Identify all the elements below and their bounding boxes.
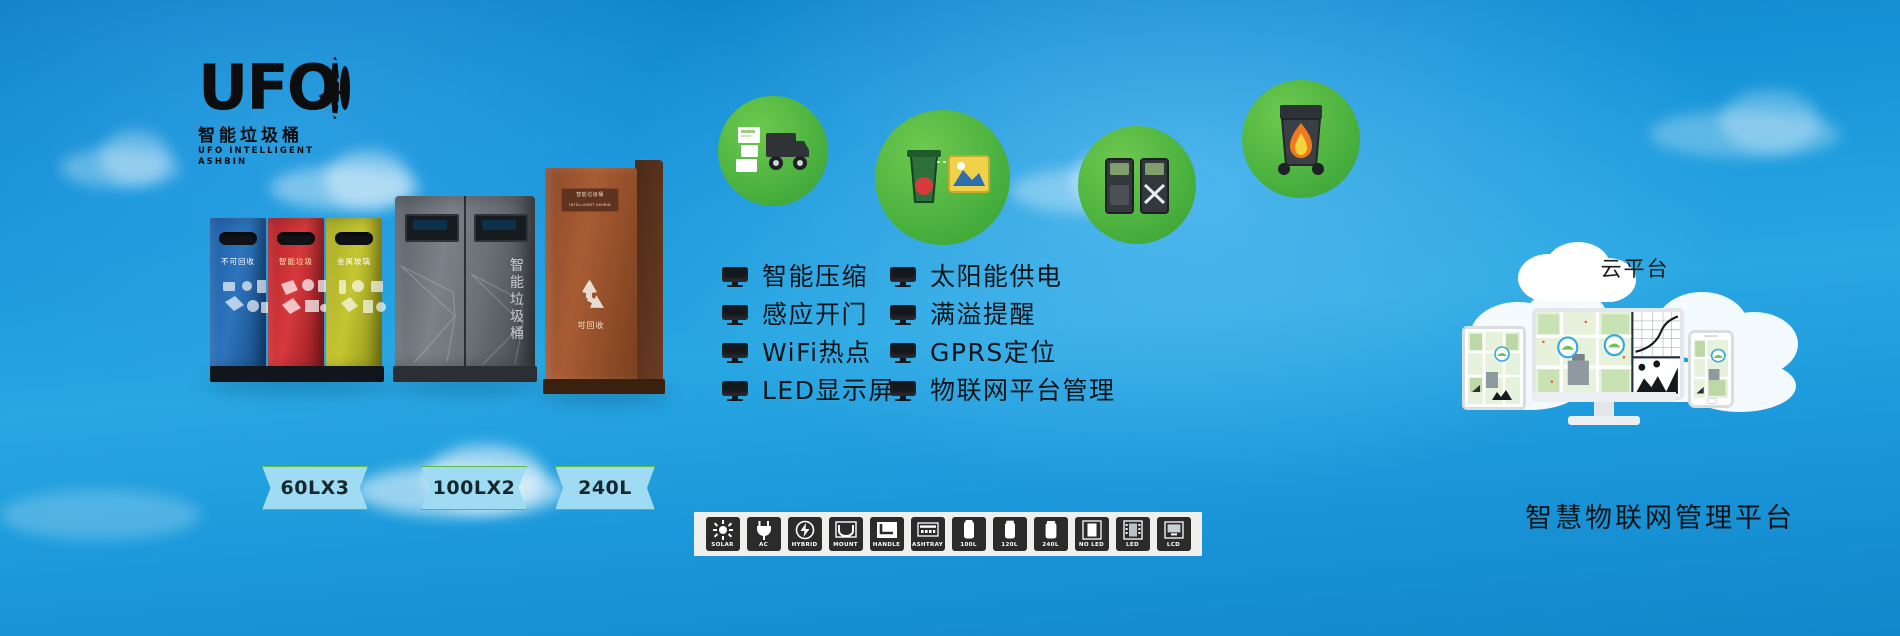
spec-icon-label: MOUNT (833, 542, 858, 549)
phone-map (1694, 340, 1728, 398)
bin-divider (464, 196, 466, 368)
hybrid-power-icon (788, 520, 822, 540)
spec-icon-120l: 120L (993, 517, 1027, 551)
product-single-brown-bin: 智能垃圾桶 INTELLIGENT ASHBIN 可回收 (545, 168, 663, 400)
spec-icon-label: AC (759, 542, 768, 549)
monitor-foot (1568, 416, 1640, 425)
sun-icon (706, 520, 740, 540)
spec-icon-lcd: LCD (1157, 517, 1191, 551)
spec-icon-no-led: NO LED (1075, 517, 1109, 551)
feature-item: 太阳能供电 (890, 262, 1116, 291)
capacity-label: 240L (578, 477, 632, 499)
lcd-icon (1157, 520, 1191, 540)
ufo-ring-icon (331, 57, 333, 119)
monitor-icon (722, 381, 748, 400)
capacity-ribbon-60lx3: 60LX3 (262, 466, 368, 510)
bin-compartment: 智能垃圾 (268, 218, 324, 368)
spec-icon-label: NO LED (1079, 542, 1104, 549)
logo-cn-name: 智能垃圾桶 (198, 126, 333, 146)
waste-pictogram (217, 272, 273, 324)
capacity-label: 100LX2 (433, 477, 516, 499)
bin-compartment: 金属玻璃 (326, 218, 382, 368)
power-plug-icon (747, 520, 781, 540)
monitor-icon (722, 343, 748, 362)
feature-label: 太阳能供电 (930, 262, 1063, 291)
feature-label: LED显示屏 (762, 376, 895, 405)
bin-side-panel (635, 160, 663, 380)
monitor-icon (890, 343, 916, 362)
waste-pictogram (333, 272, 389, 324)
feature-circle-fire-alarm-bin (1242, 80, 1360, 198)
ashtray-icon (911, 520, 945, 540)
capacity-label: 60LX3 (281, 477, 350, 499)
bin-body: 智能垃圾桶 (395, 196, 535, 368)
waste-slot (219, 232, 257, 245)
capacity-ribbon-100lx2: 100LX2 (421, 466, 527, 510)
bin-side-label: 智能垃圾桶 (509, 258, 527, 343)
bin-compartment: 不可回收 (210, 218, 266, 368)
spec-icon-100l: 100L (952, 517, 986, 551)
handle-icon (870, 520, 904, 540)
compactor-truck-icon (736, 123, 810, 179)
spec-icon-label: 100L (960, 542, 976, 549)
device-tablet (1462, 326, 1526, 410)
spec-icon-240l: 240L (1034, 517, 1068, 551)
bin-control-panel: 智能垃圾桶 INTELLIGENT ASHBIN (561, 188, 619, 212)
bin-base (393, 366, 537, 382)
spec-icon-strip: SOLAR AC HYBRID (694, 512, 1202, 556)
spec-icon-label: 240L (1042, 542, 1058, 549)
banner-hero: UFO 智能垃圾桶 UFO INTELLIGENT ASHBIN 不可回收 (0, 0, 1900, 636)
feature-label: 感应开门 (762, 300, 868, 329)
panel-title: 智能垃圾桶 (562, 192, 618, 199)
cloud-platform-label: 云平台 (1575, 253, 1695, 283)
recycle-label: 可回收 (545, 320, 637, 331)
led-display (482, 220, 516, 230)
feature-circle-dual-bin (1078, 126, 1196, 244)
compartment-label: 金属玻璃 (326, 256, 382, 267)
monitor-icon (890, 381, 916, 400)
feature-label: 物联网平台管理 (930, 376, 1116, 405)
feature-list-right: 太阳能供电 满溢提醒 GPRS定位 物联网平台管理 (890, 262, 1116, 414)
led-icon (1116, 520, 1150, 540)
bin-base (543, 379, 665, 394)
device-desktop-monitor (1532, 308, 1676, 426)
tablet-map (1468, 332, 1520, 404)
feature-circle-solar-bin (875, 110, 1010, 245)
waste-slot (335, 232, 373, 245)
waste-slot (277, 232, 315, 245)
feature-item: 满溢提醒 (890, 300, 1116, 329)
monitor-icon (722, 267, 748, 286)
spec-icon-label: ASHTRAY (912, 542, 943, 549)
feature-label: 智能压缩 (762, 262, 868, 291)
feature-item: WiFi热点 (722, 338, 895, 367)
feature-item: GPRS定位 (890, 338, 1116, 367)
feature-item: 感应开门 (722, 300, 895, 329)
feature-item: 物联网平台管理 (890, 376, 1116, 405)
spec-icon-label: 120L (1001, 542, 1017, 549)
compartment-label: 不可回收 (210, 256, 266, 267)
monitor-icon (890, 267, 916, 286)
solar-bin-icon (893, 142, 993, 214)
wall-mount-icon (829, 520, 863, 540)
compartment-label: 智能垃圾 (268, 256, 324, 267)
monitor-icon (722, 305, 748, 324)
led-display (413, 220, 447, 230)
waste-pictogram (275, 272, 331, 324)
dashboard-content (1536, 312, 1680, 396)
spec-icon-ac: AC (747, 517, 781, 551)
logo-en-name: UFO INTELLIGENT ASHBIN (198, 146, 333, 168)
spec-icon-mount: MOUNT (829, 517, 863, 551)
spec-icon-hybrid: HYBRID (788, 517, 822, 551)
monitor-icon (890, 305, 916, 324)
product-three-compartment-bin: 不可回收 智能垃圾 金属玻璃 (210, 218, 385, 388)
dual-bin-icon (1098, 149, 1176, 221)
feature-list-left: 智能压缩 感应开门 WiFi热点 LED显示屏 (722, 262, 895, 414)
spec-icon-label: SOLAR (711, 542, 734, 549)
brand-logo: UFO 智能垃圾桶 UFO INTELLIGENT ASHBIN (198, 52, 333, 172)
monitor-bezel (1532, 308, 1684, 400)
bin-base (210, 366, 384, 382)
spec-icon-solar: SOLAR (706, 517, 740, 551)
feature-label: 满溢提醒 (930, 300, 1036, 329)
bin-120l-icon (993, 520, 1027, 540)
feature-item: 智能压缩 (722, 262, 895, 291)
product-double-compartment-bin: 智能垃圾桶 (395, 196, 535, 388)
platform-title: 智慧物联网管理平台 (1450, 496, 1870, 535)
fire-alarm-bin-icon (1262, 99, 1340, 179)
capacity-ribbon-240l: 240L (555, 466, 655, 510)
spec-icon-label: LCD (1167, 542, 1180, 549)
bin-body: 智能垃圾桶 INTELLIGENT ASHBIN 可回收 (545, 168, 637, 380)
spec-icon-ashtray: ASHTRAY (911, 517, 945, 551)
monitor-chin (1532, 392, 1676, 402)
logo-wordmark: UFO (198, 57, 337, 119)
recycle-icon (569, 276, 609, 316)
feature-item: LED显示屏 (722, 376, 895, 405)
phone-speaker (1704, 335, 1718, 337)
spec-icon-led: LED (1116, 517, 1150, 551)
spec-icon-label: HANDLE (873, 542, 901, 549)
bin-100l-icon (952, 520, 986, 540)
feature-circle-compaction-truck (718, 96, 828, 206)
bin-240l-icon (1034, 520, 1068, 540)
phone-home-button (1707, 398, 1717, 404)
spec-icon-label: HYBRID (792, 542, 818, 549)
spec-icon-handle: HANDLE (870, 517, 904, 551)
no-led-icon (1075, 520, 1109, 540)
spec-icon-label: LED (1126, 542, 1139, 549)
panel-subtitle: INTELLIGENT ASHBIN (562, 202, 618, 209)
device-smartphone (1688, 330, 1734, 408)
feature-label: WiFi热点 (762, 338, 872, 367)
feature-label: GPRS定位 (930, 338, 1057, 367)
